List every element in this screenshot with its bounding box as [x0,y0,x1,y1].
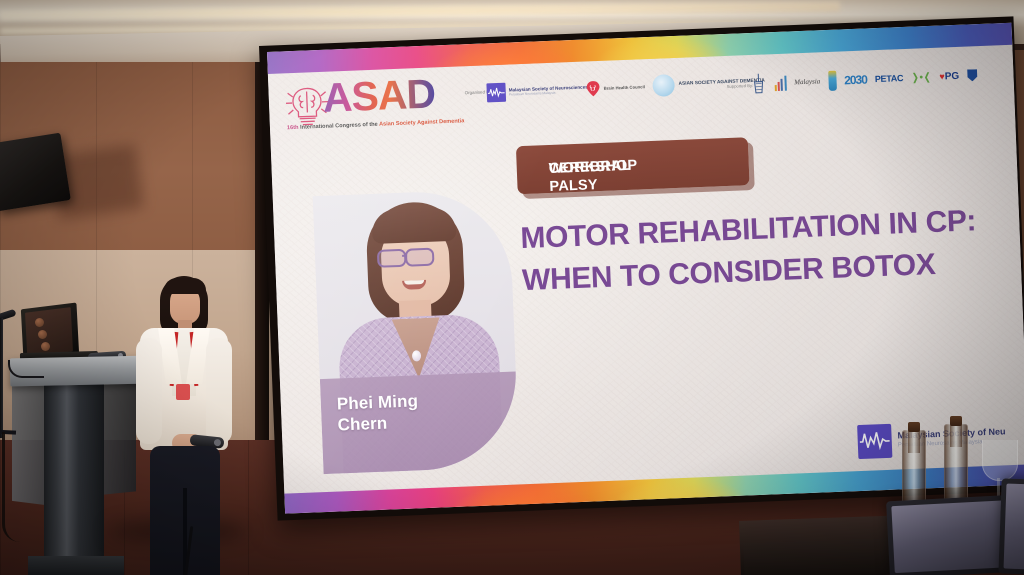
congress-logo: ASAD 16th International Congress of the … [282,74,484,142]
brain-pin-icon [584,80,602,98]
portrait-glasses-right [405,248,435,267]
petac-icon: PETAC [874,66,903,91]
laptop-screen-reflection-1 [35,318,44,327]
asad-wordmark: ASAD [322,73,436,118]
wine-glass-bowl [982,440,1018,481]
speaker-name-line2: Chern [337,413,387,434]
msn-label: Malaysian Society of NeurosciencesPersat… [509,84,588,97]
session-badge: CEREBRAL PALSYWORKSHOP [516,137,750,194]
podium-base [28,556,124,575]
bottle-icon [828,69,837,93]
heart-pg-icon: ♥PG [939,64,960,89]
tower-icon [750,71,767,96]
supporter-logo-row: Malaysia 2030 PETAC ❭•❬ ♥PG [750,61,978,98]
logo-malaysian-society-neurosciences: Malaysian Society of NeurosciencesPersat… [486,79,588,102]
laptop-screen-reflection-3 [41,342,50,351]
session-badge-line2: WORKSHOP [548,158,637,179]
congress-society-name: Asian Society Against Dementia [379,118,464,127]
shield-icon [967,63,978,87]
portrait-glasses-left [377,249,407,268]
speaker-name-line1: Phei Ming [336,391,418,413]
presenter [128,276,236,575]
portrait-fringe [371,207,456,244]
fish-icon: ❭•❬ [911,65,932,90]
speaker-name: Phei MingChern [336,390,419,436]
logo-brain-health-council: Brain Health Council [584,78,645,97]
laptop-cable [8,360,44,378]
supported-by-label: Supported By: [727,83,754,89]
session-badge-text: CEREBRAL PALSYWORKSHOP [532,154,533,172]
speaker-card: Phei MingChern [313,189,520,474]
malaysia-bars-icon [774,75,786,91]
congress-ordinal: 16th [287,125,299,131]
presenter-arm-right [206,338,232,444]
laptop-screen [25,307,73,357]
globe-circle-icon [652,74,675,97]
floor-cable [2,432,21,542]
presenter-arm-left [136,338,162,444]
presenter-fringe [164,278,206,294]
2030-icon: 2030 [844,67,868,92]
presenter-badge [176,384,190,400]
malaysia-script-icon: Malaysia [794,69,821,94]
bhc-label: Brain Health Council [604,84,645,91]
podium-column [44,382,104,575]
foreground-laptop-2 [998,478,1024,575]
portrait-glasses-bridge [402,255,407,257]
presentation-photo: ASAD 16th International Congress of the … [0,0,1024,575]
speaker-icon [0,133,71,212]
eeg-wave-icon [857,424,892,459]
microphone-stand [0,318,3,438]
laptop-screen-reflection-2 [38,330,47,339]
eeg-wave-icon [486,83,506,103]
foreground-laptop-2-screen [1004,484,1024,572]
